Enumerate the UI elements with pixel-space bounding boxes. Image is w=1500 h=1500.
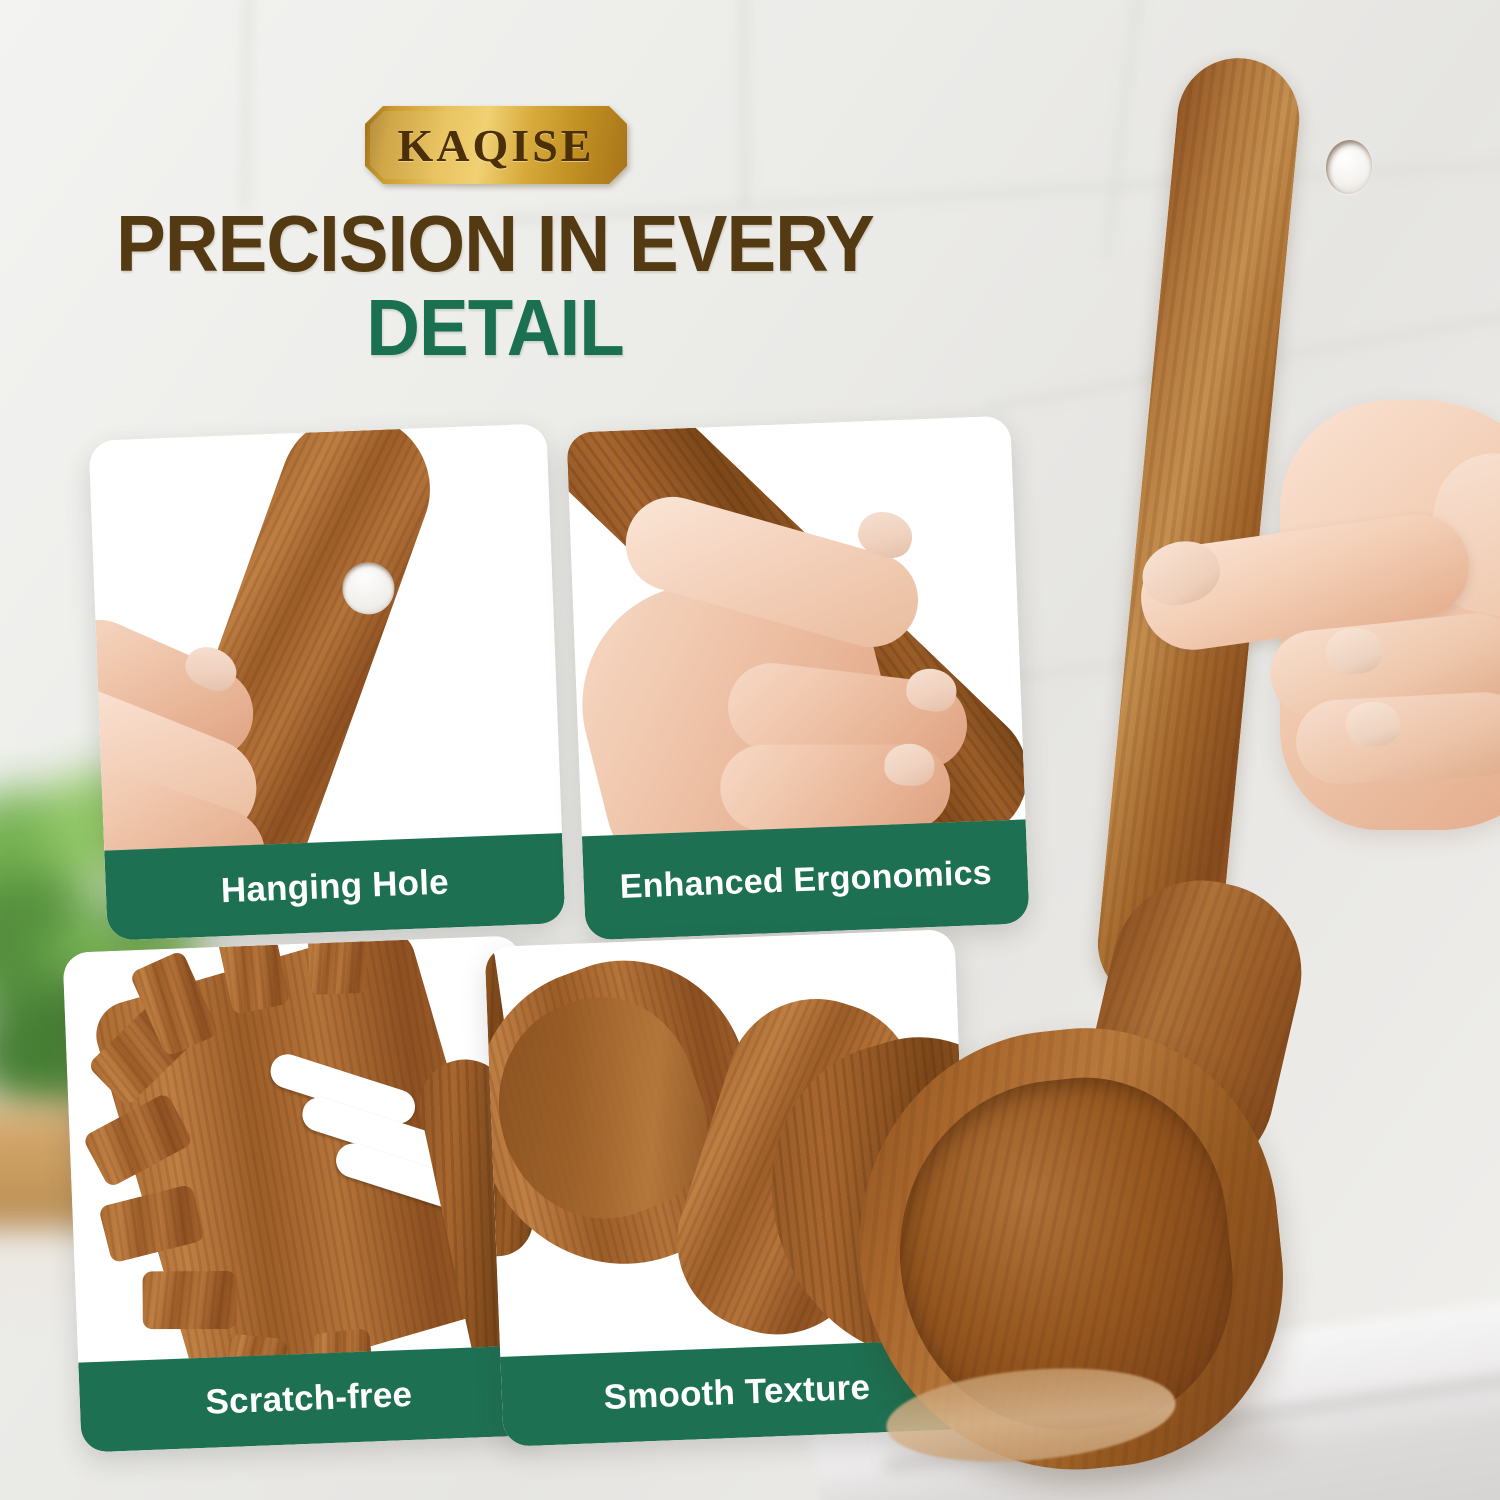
fingernail (1346, 702, 1400, 746)
feature-label-scratch-free: Scratch-free (78, 1345, 539, 1453)
feature-label-hanging-hole: Hanging Hole (104, 833, 565, 941)
marketing-graphic: KAQISE PRECISION IN EVERY DETAIL Hanging… (0, 0, 1500, 1500)
server-tooth (306, 935, 367, 995)
server-tooth (143, 1271, 237, 1329)
feature-photo-hanging-hole (89, 423, 562, 850)
hand-holding-product (1130, 360, 1500, 840)
feature-card-scratch-free[interactable]: Scratch-free (63, 935, 540, 1452)
feature-photo-scratch-free (63, 935, 536, 1362)
feature-card-hanging-hole[interactable]: Hanging Hole (89, 423, 566, 940)
finger (1294, 690, 1500, 786)
hero-product-photo (830, 0, 1500, 1500)
hanging-hole-icon (1324, 138, 1375, 196)
